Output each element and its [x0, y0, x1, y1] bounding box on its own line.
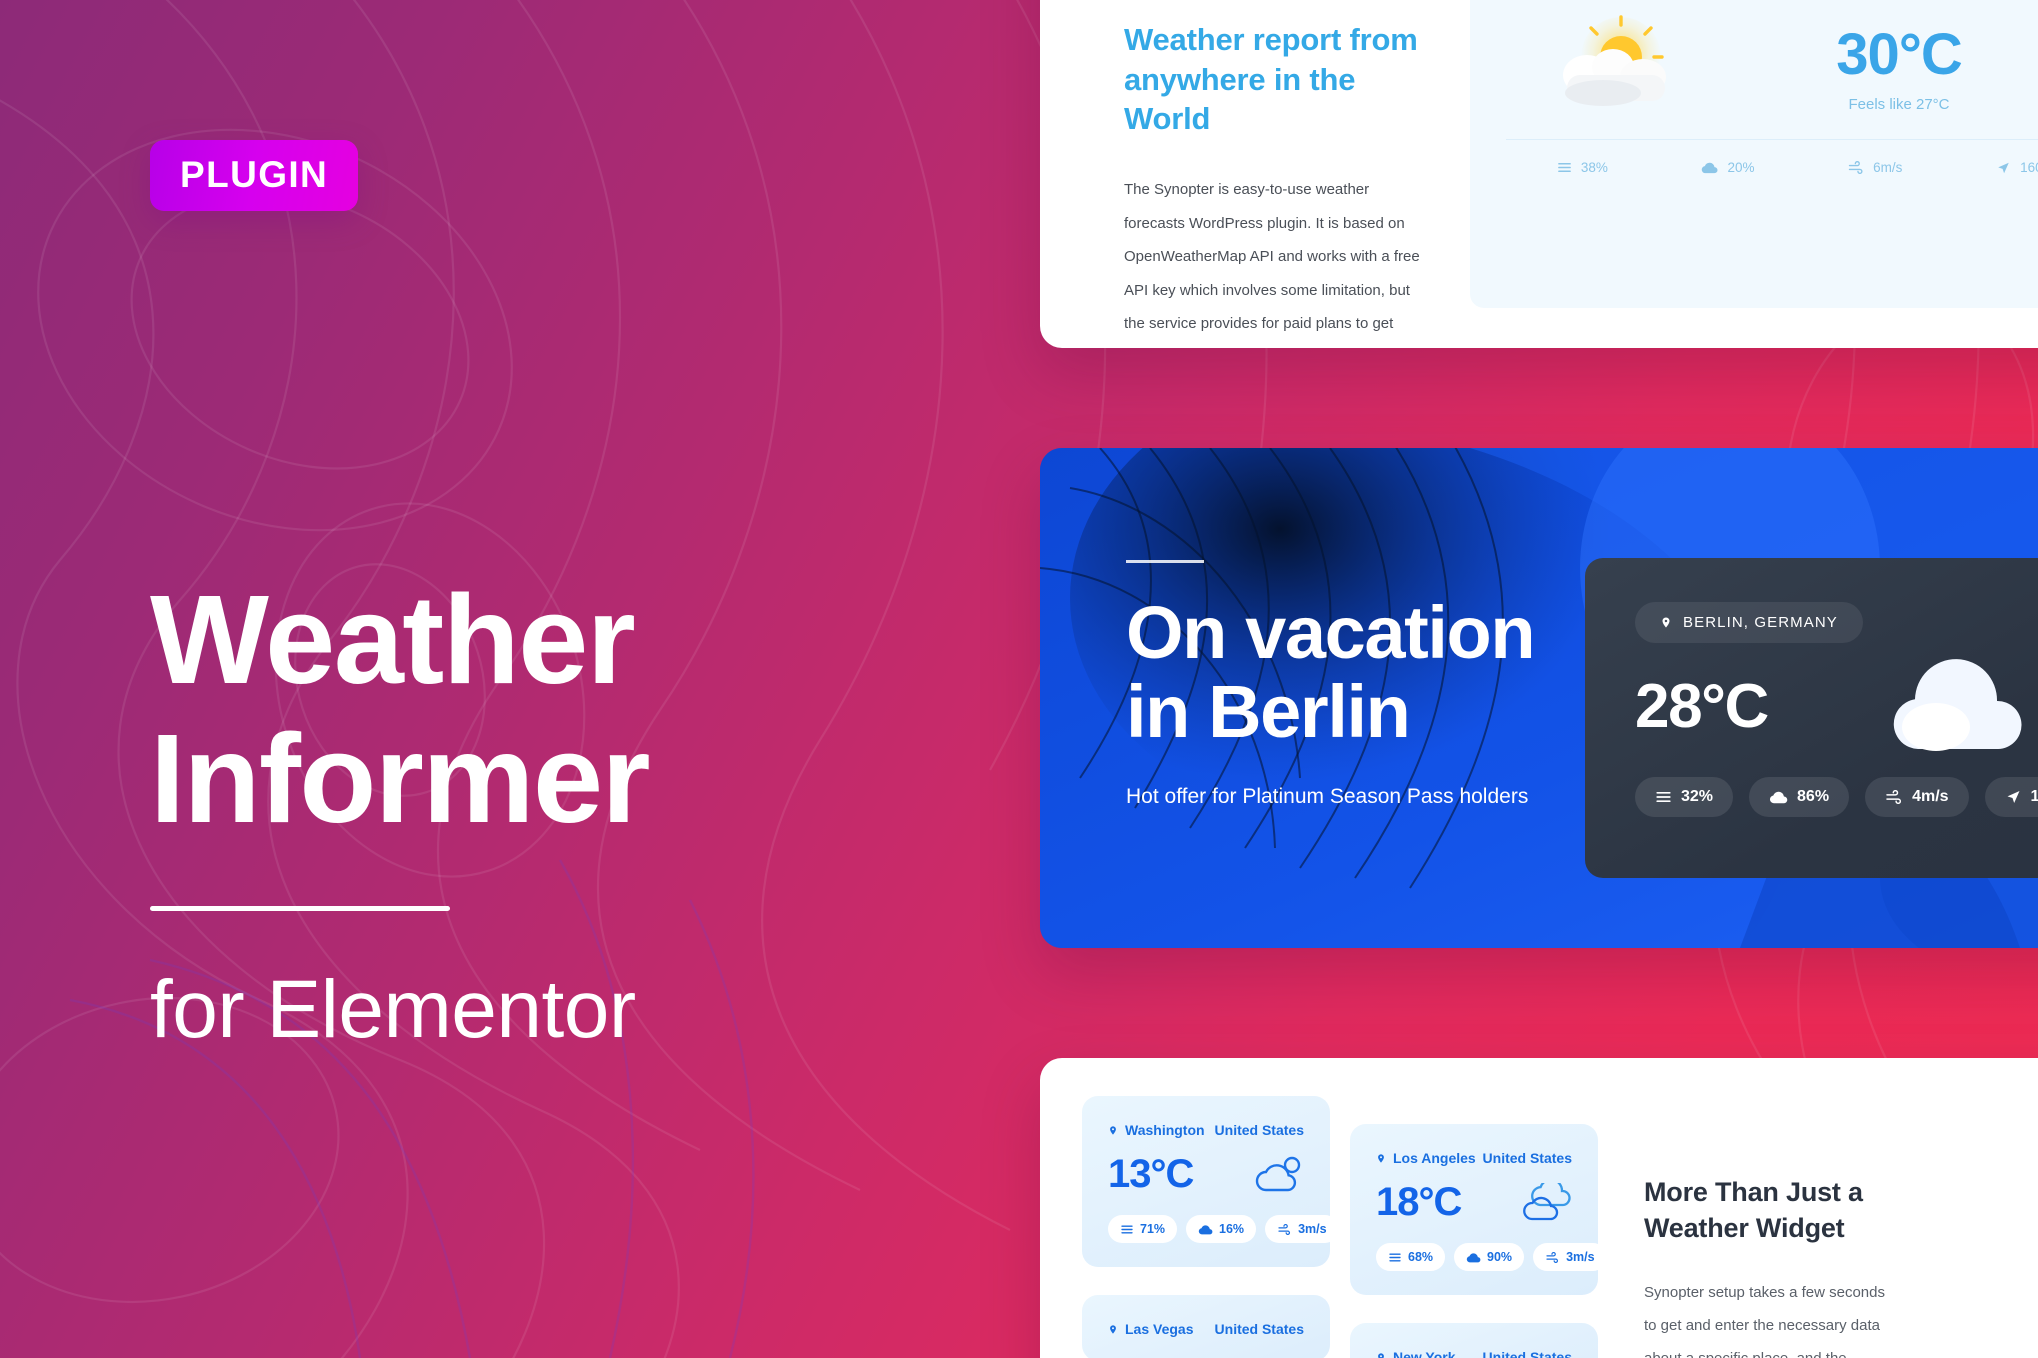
plugin-badge-label: PLUGIN	[180, 156, 328, 193]
stat-cloudiness: 86%	[1749, 777, 1849, 817]
berlin-weather-panel: BERLIN, GERMANY 28°C 32%	[1585, 558, 2038, 878]
stat-wind: 6m/s	[1848, 160, 1902, 175]
city-temperature: 18°C	[1376, 1180, 1461, 1225]
wind-icon	[1885, 790, 1903, 804]
widget-temperature: 30°C	[1722, 26, 2038, 84]
city-country: United States	[1215, 1321, 1304, 1337]
stat-humidity: 71%	[1108, 1215, 1177, 1243]
stat-cloudiness: 20%	[1701, 160, 1754, 175]
map-pin-icon	[1376, 1351, 1386, 1358]
city-stats: 68% 90% 3m/s	[1376, 1243, 1572, 1271]
city-location: Washington	[1108, 1122, 1205, 1138]
city-main: 13°C	[1108, 1152, 1304, 1197]
cloud-icon	[1701, 161, 1718, 174]
stat-cloudiness-value: 20%	[1727, 160, 1754, 175]
widget-stats: 38% 20% 6m/s	[1506, 140, 2038, 177]
berlin-hero-card: On vacation in Berlin Hot offer for Plat…	[1040, 448, 2038, 948]
cloud-moon-icon	[1252, 1154, 1304, 1196]
widget-feels-like: Feels like 27°C	[1722, 96, 2038, 113]
stat-cloudiness: 16%	[1186, 1215, 1256, 1243]
berlin-text: On vacation in Berlin Hot offer for Plat…	[1126, 560, 1534, 809]
city-country: United States	[1215, 1122, 1304, 1138]
report-body: The Synopter is easy-to-use weather fore…	[1124, 173, 1424, 348]
promo-banner: PLUGIN Weather Informer for Elementor We…	[0, 0, 2038, 1358]
city-name: Washington	[1125, 1122, 1205, 1138]
weather-report-card: Weather report from anywhere in the Worl…	[1040, 0, 2038, 348]
city-card-los-angeles[interactable]: Los Angeles United States 18°C	[1350, 1124, 1598, 1295]
city-name: Los Angeles	[1393, 1150, 1476, 1166]
cloud-icon	[1466, 1252, 1481, 1263]
stat-cloudiness-value: 86%	[1797, 788, 1829, 806]
hero-block: PLUGIN Weather Informer for Elementor	[150, 140, 970, 1053]
cities-body: Synopter setup takes a few seconds to ge…	[1644, 1276, 1892, 1358]
humidity-icon	[1120, 1224, 1134, 1235]
berlin-stats: 32% 86% 4m/s	[1635, 777, 2038, 817]
stat-wind-value: 4m/s	[1912, 788, 1948, 806]
stat-humidity-value: 68%	[1408, 1250, 1433, 1264]
berlin-subheading: Hot offer for Platinum Season Pass holde…	[1126, 785, 1534, 809]
berlin-location-label: BERLIN, GERMANY	[1683, 614, 1838, 631]
city-name: Las Vegas	[1125, 1321, 1194, 1337]
cloud-icon	[1878, 657, 2028, 757]
stat-cloudiness-value: 16%	[1219, 1222, 1244, 1236]
widget-temperature-block: 30°C Feels like 27°C	[1722, 26, 2038, 113]
stat-wind-value: 3m/s	[1566, 1250, 1595, 1264]
stat-humidity-value: 32%	[1681, 788, 1713, 806]
stat-humidity-value: 38%	[1581, 160, 1608, 175]
page-title: Weather Informer	[150, 571, 970, 848]
berlin-temperature: 28°C	[1635, 668, 1768, 746]
city-location: New York	[1376, 1349, 1456, 1358]
wind-icon	[1848, 161, 1864, 174]
berlin-heading: On vacation in Berlin	[1126, 593, 1534, 751]
stat-wind: 3m/s	[1265, 1215, 1339, 1243]
clouds-icon	[1518, 1183, 1572, 1223]
cities-heading: More Than Just a Weather Widget	[1644, 1174, 1892, 1246]
stat-wind-value: 6m/s	[1873, 160, 1902, 175]
map-pin-icon	[1108, 1124, 1118, 1137]
plugin-badge: PLUGIN	[150, 140, 358, 211]
cities-text-column: More Than Just a Weather Widget Synopter…	[1618, 1096, 1948, 1358]
stat-wind-direction: 1	[1985, 777, 2038, 817]
city-header: Los Angeles United States	[1376, 1150, 1572, 1166]
city-country: United States	[1483, 1150, 1572, 1166]
berlin-rule	[1126, 560, 1204, 563]
stat-humidity-value: 71%	[1140, 1222, 1165, 1236]
stat-cloudiness: 90%	[1454, 1243, 1524, 1271]
wind-direction-icon	[2005, 789, 2022, 805]
map-pin-icon	[1108, 1323, 1118, 1336]
wind-direction-icon	[1996, 161, 2011, 175]
city-header: Las Vegas United States	[1108, 1321, 1304, 1337]
city-card-washington[interactable]: Washington United States 13°C	[1082, 1096, 1330, 1267]
city-column-right: Los Angeles United States 18°C	[1350, 1096, 1598, 1358]
widget-main: 30°C Feels like 27°C	[1506, 0, 2038, 140]
stat-wind-value: 3m/s	[1298, 1222, 1327, 1236]
map-pin-icon	[1376, 1152, 1386, 1165]
city-widgets-card: Washington United States 13°C	[1040, 1058, 2038, 1358]
malaga-weather-widget: Location: Málaga Population: 568305	[1470, 0, 2038, 308]
humidity-icon	[1557, 161, 1572, 174]
stat-humidity: 32%	[1635, 777, 1733, 817]
stat-humidity: 38%	[1557, 160, 1608, 175]
map-pin-icon	[1660, 615, 1672, 630]
page-subtitle: for Elementor	[150, 967, 970, 1053]
city-location: Los Angeles	[1376, 1150, 1476, 1166]
city-card-las-vegas[interactable]: Las Vegas United States	[1082, 1295, 1330, 1358]
stat-wind-direction-value: 1	[2031, 788, 2038, 806]
report-heading: Weather report from anywhere in the Worl…	[1124, 20, 1424, 139]
cloud-icon	[1769, 790, 1788, 804]
berlin-location-chip: BERLIN, GERMANY	[1635, 602, 1863, 643]
city-main: 18°C	[1376, 1180, 1572, 1225]
stat-wind-direction: 160deg	[1996, 160, 2038, 175]
city-stats: 71% 16% 3m/s	[1108, 1215, 1304, 1243]
city-header: Washington United States	[1108, 1122, 1304, 1138]
stat-cloudiness-value: 90%	[1487, 1250, 1512, 1264]
wind-icon	[1277, 1224, 1292, 1235]
city-temperature: 13°C	[1108, 1152, 1193, 1197]
berlin-main-row: 28°C	[1635, 657, 2038, 757]
humidity-icon	[1655, 790, 1672, 804]
city-header: New York United States	[1376, 1349, 1572, 1358]
wind-icon	[1545, 1252, 1560, 1263]
report-text-column: Weather report from anywhere in the Worl…	[1040, 0, 1460, 348]
stat-wind-direction-value: 160deg	[2020, 160, 2038, 175]
title-divider	[150, 906, 450, 911]
city-country: United States	[1483, 1349, 1572, 1358]
sun-behind-cloud-icon	[1512, 15, 1722, 123]
cloud-icon	[1198, 1224, 1213, 1235]
stat-humidity: 68%	[1376, 1243, 1445, 1271]
stat-wind: 4m/s	[1865, 777, 1968, 817]
humidity-icon	[1388, 1252, 1402, 1263]
city-name: New York	[1393, 1349, 1456, 1358]
city-card-new-york[interactable]: New York United States	[1350, 1323, 1598, 1358]
city-location: Las Vegas	[1108, 1321, 1194, 1337]
stat-wind: 3m/s	[1533, 1243, 1607, 1271]
city-column-left: Washington United States 13°C	[1082, 1096, 1330, 1358]
